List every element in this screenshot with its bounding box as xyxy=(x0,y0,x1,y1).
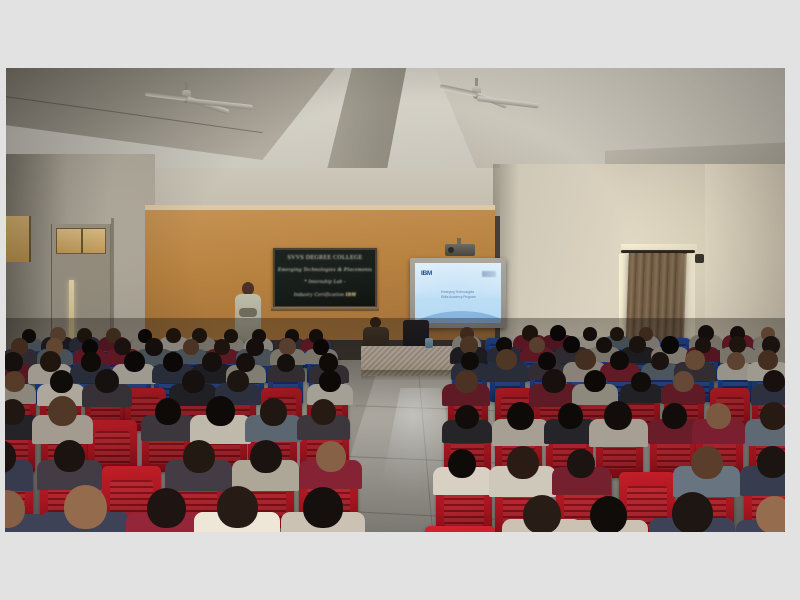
audience-person-head xyxy=(50,370,73,393)
audience-person-head xyxy=(5,371,25,392)
audience-person-head xyxy=(155,398,181,425)
audience-person-head xyxy=(662,403,687,429)
audience-person-head xyxy=(757,446,785,478)
audience-person-head xyxy=(182,370,205,393)
audience-person-head xyxy=(206,396,235,426)
audience-person-head xyxy=(183,339,199,355)
audience-person-head xyxy=(760,402,785,430)
audience-person-head xyxy=(575,349,596,370)
audience-person-head xyxy=(558,403,583,429)
audience-person-head xyxy=(319,370,341,392)
seminar-hall-photo: SVVS DEGREE COLLEGE Emerging Technologie… xyxy=(5,68,785,532)
audience-person-head xyxy=(166,328,181,343)
screenshot-canvas: SVVS DEGREE COLLEGE Emerging Technologie… xyxy=(0,0,800,600)
audience-person-head xyxy=(631,372,651,392)
audience-person-head xyxy=(227,370,249,392)
audience-person-head xyxy=(145,338,163,356)
audience-person-head xyxy=(672,492,713,532)
chair-slats xyxy=(95,431,130,463)
letterbox-right xyxy=(785,0,800,600)
audience-person-head xyxy=(48,396,77,426)
audience-person-head xyxy=(5,399,25,425)
audience-person-head xyxy=(316,441,346,472)
audience-person-head xyxy=(538,352,556,370)
audience-person-head xyxy=(461,352,479,370)
audience-person-head xyxy=(507,446,539,479)
audience-person-head xyxy=(758,350,778,370)
audience-person-head xyxy=(455,370,478,393)
audience-person-head xyxy=(496,349,517,370)
audience-person-head xyxy=(706,403,731,429)
audience-person-head xyxy=(727,352,745,370)
audience-person-head xyxy=(40,351,61,372)
audience-person-head xyxy=(563,336,580,353)
audience-person-head xyxy=(673,371,694,392)
audience-person-head xyxy=(124,351,145,372)
audience-person-head xyxy=(5,352,23,372)
audience-person-head xyxy=(629,336,646,353)
audience-person-head xyxy=(163,352,183,372)
audience-person-head xyxy=(584,370,606,392)
audience-person-head xyxy=(311,399,336,425)
audience-person-head xyxy=(610,351,629,370)
audience-person-head xyxy=(651,352,669,370)
audience-person-head xyxy=(729,336,746,353)
audience-person-head xyxy=(583,327,597,341)
audience-seating xyxy=(5,68,785,532)
audience-person-head xyxy=(54,440,85,472)
audience-person-head xyxy=(81,352,101,372)
audience-person-head xyxy=(260,398,287,426)
letterbox-bottom xyxy=(0,532,800,600)
audience-person-head xyxy=(448,449,476,478)
audience-person-head xyxy=(590,496,627,532)
audience-person-head xyxy=(64,485,107,529)
audience-person-head xyxy=(661,336,679,354)
audience-person-head xyxy=(604,401,632,430)
audience-person-head xyxy=(455,405,479,429)
audience-person-head xyxy=(183,440,215,473)
audience-person-head xyxy=(147,488,186,528)
audience-person-head xyxy=(303,487,343,528)
audience-person-head xyxy=(529,337,545,353)
audience-person-head xyxy=(507,402,534,430)
audience-person-head xyxy=(567,449,595,478)
audience-person-head xyxy=(217,486,258,528)
audience-person-head xyxy=(542,369,566,393)
audience-person-head xyxy=(756,496,785,532)
audience-person-head xyxy=(277,354,295,372)
audience-person-head xyxy=(279,338,296,355)
audience-person-head xyxy=(691,446,723,479)
audience-person-head xyxy=(685,350,705,370)
audience-person-head xyxy=(202,352,222,372)
audience-person-head xyxy=(523,495,561,532)
letterbox-top xyxy=(0,0,800,68)
audience-person-head xyxy=(95,369,119,393)
audience-person-head xyxy=(250,440,282,473)
audience-person-head xyxy=(763,370,785,392)
audience-chair xyxy=(425,526,495,532)
audience-person-head xyxy=(610,327,624,341)
audience-person-head xyxy=(596,337,612,353)
